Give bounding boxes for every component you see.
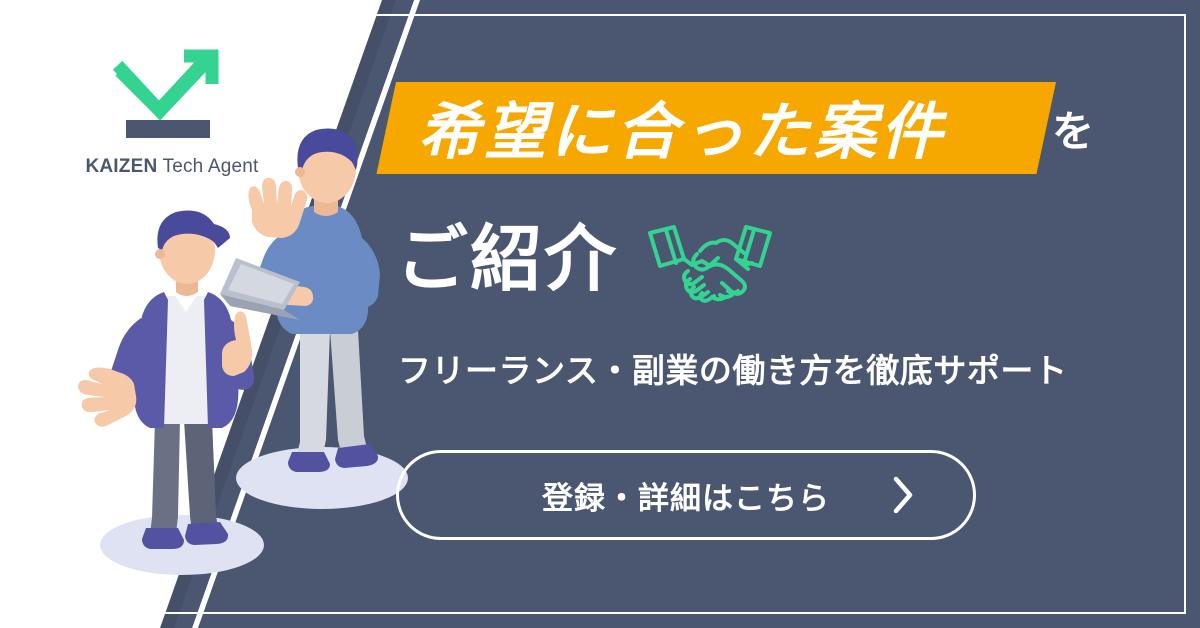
content-column: 希望に合った案件 を ご紹介 — [396, 0, 1200, 628]
growth-arrow-icon — [110, 48, 234, 144]
handshake-icon — [644, 217, 776, 303]
headline-row: 希望に合った案件 を — [396, 82, 1200, 174]
tagline-text: フリーランス・副業の働き方を徹底サポート — [398, 344, 1188, 392]
brand-logo[interactable]: KAIZEN Tech Agent — [72, 48, 272, 178]
promo-banner: KAIZEN Tech Agent 希望に合った案件 を ご紹介 — [0, 0, 1200, 628]
brand-name-bold: KAIZEN — [85, 156, 157, 177]
brand-name-regular: Tech Agent — [163, 156, 259, 177]
cta-button-label: 登録・詳細はこちら — [542, 473, 830, 518]
headline-suffix-text: を — [1052, 82, 1094, 174]
cta-button[interactable]: 登録・詳細はこちら — [396, 450, 976, 540]
subheadline-row: ご紹介 — [396, 212, 1200, 308]
subheadline-text: ご紹介 — [396, 224, 618, 296]
chevron-right-icon — [891, 475, 915, 515]
brand-name: KAIZEN Tech Agent — [72, 156, 272, 178]
headline-highlighted-text: 希望に合った案件 — [418, 80, 946, 172]
